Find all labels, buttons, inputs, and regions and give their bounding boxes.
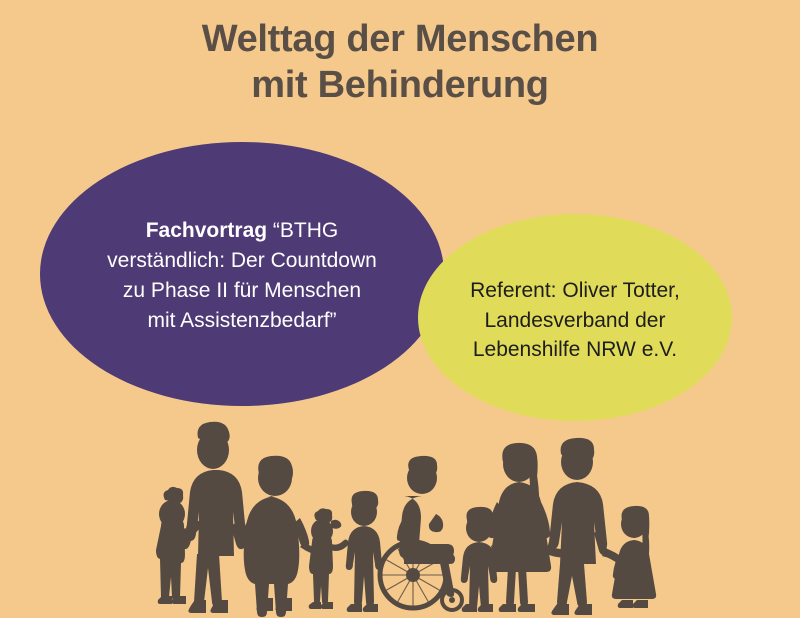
silhouette-adult-1 [181,422,246,613]
title-line-2: mit Behinderung [0,62,800,108]
lecture-info-ellipse: Fachvortrag “BTHG verständlich: Der Coun… [40,142,444,406]
speaker-info-text: Referent: Oliver Totter, Landesverband d… [420,276,730,365]
group-of-people-silhouettes-icon [0,418,800,618]
lecture-title-line-4: mit Assistenzbedarf” [67,306,417,336]
lecture-title-line-3: zu Phase II für Menschen [67,276,417,306]
page-title: Welttag der Menschen mit Behinderung [0,16,800,109]
silhouette-adult-2 [240,456,309,617]
speaker-line-2: Landesverband der [430,306,720,336]
speaker-line-3: Lebenshilfe NRW e.V. [430,335,720,365]
silhouette-adult-3 [488,443,551,612]
lecture-title-line-2: verständlich: Der Countdown [67,246,417,276]
lecture-label: Fachvortrag [146,219,267,242]
title-line-1: Welttag der Menschen [0,16,800,62]
silhouette-child-3 [346,491,382,612]
lecture-title-line-1: Fachvortrag “BTHG [67,216,417,246]
silhouette-wheelchair-user [380,456,462,610]
silhouette-child-2 [309,508,349,609]
speaker-line-1: Referent: Oliver Totter, [430,276,720,306]
poster-canvas: Welttag der Menschen mit Behinderung Fac… [0,0,800,618]
speaker-info-ellipse: Referent: Oliver Totter, Landesverband d… [418,214,732,421]
silhouette-adult-4 [546,438,607,615]
lecture-title-start: “BTHG [267,219,338,242]
lecture-info-text: Fachvortrag “BTHG verständlich: Der Coun… [57,216,427,335]
